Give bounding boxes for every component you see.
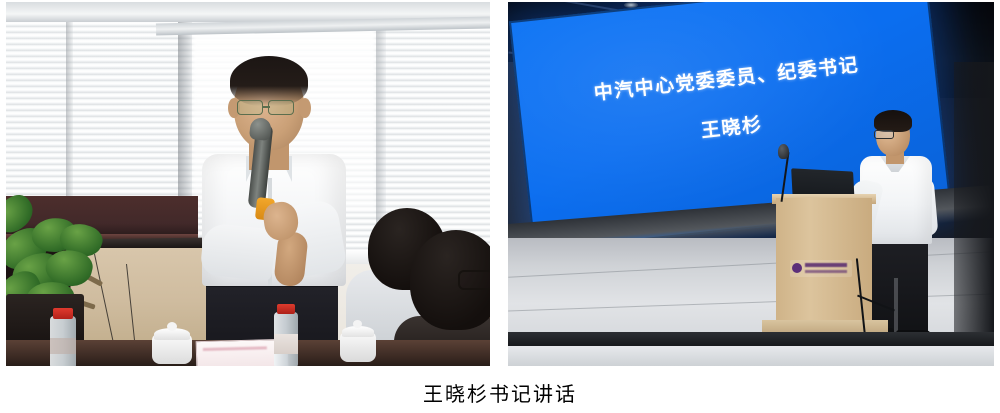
speaker-left-arm <box>199 222 276 281</box>
name-card-line <box>203 346 267 351</box>
front-floor-strip <box>508 346 994 366</box>
right-photo: 中汽中心党委委员、纪委书记 王晓杉 <box>508 2 994 366</box>
speaker-hair <box>230 56 308 106</box>
glasses-bridge <box>262 106 270 108</box>
podium-logo-text-line <box>805 263 847 267</box>
podium-logo-text-line <box>805 270 847 273</box>
tea-cup-knob <box>167 322 177 331</box>
bottle-label <box>50 338 76 354</box>
podium-logo-icon <box>792 263 802 273</box>
speaker-leg-gap <box>894 278 898 336</box>
speaker-glasses <box>874 130 894 139</box>
speaker-hair <box>874 110 912 132</box>
stage-edge <box>508 332 994 346</box>
glasses-lens-right <box>268 100 294 115</box>
left-photo <box>6 2 490 366</box>
speaker-ear <box>299 98 311 118</box>
glasses-lens-left <box>237 100 263 115</box>
figure-caption: 王晓杉书记讲话 <box>0 378 1000 407</box>
audience-glasses <box>458 270 490 290</box>
bottle-label <box>274 334 298 354</box>
bottle-cap <box>277 304 295 314</box>
microphone-head <box>778 144 789 159</box>
page-root: 中汽中心党委委员、纪委书记 王晓杉 <box>0 0 1000 413</box>
tea-cup-knob <box>353 320 362 328</box>
right-dark-wall <box>954 62 994 346</box>
bottle-cap <box>53 308 73 319</box>
